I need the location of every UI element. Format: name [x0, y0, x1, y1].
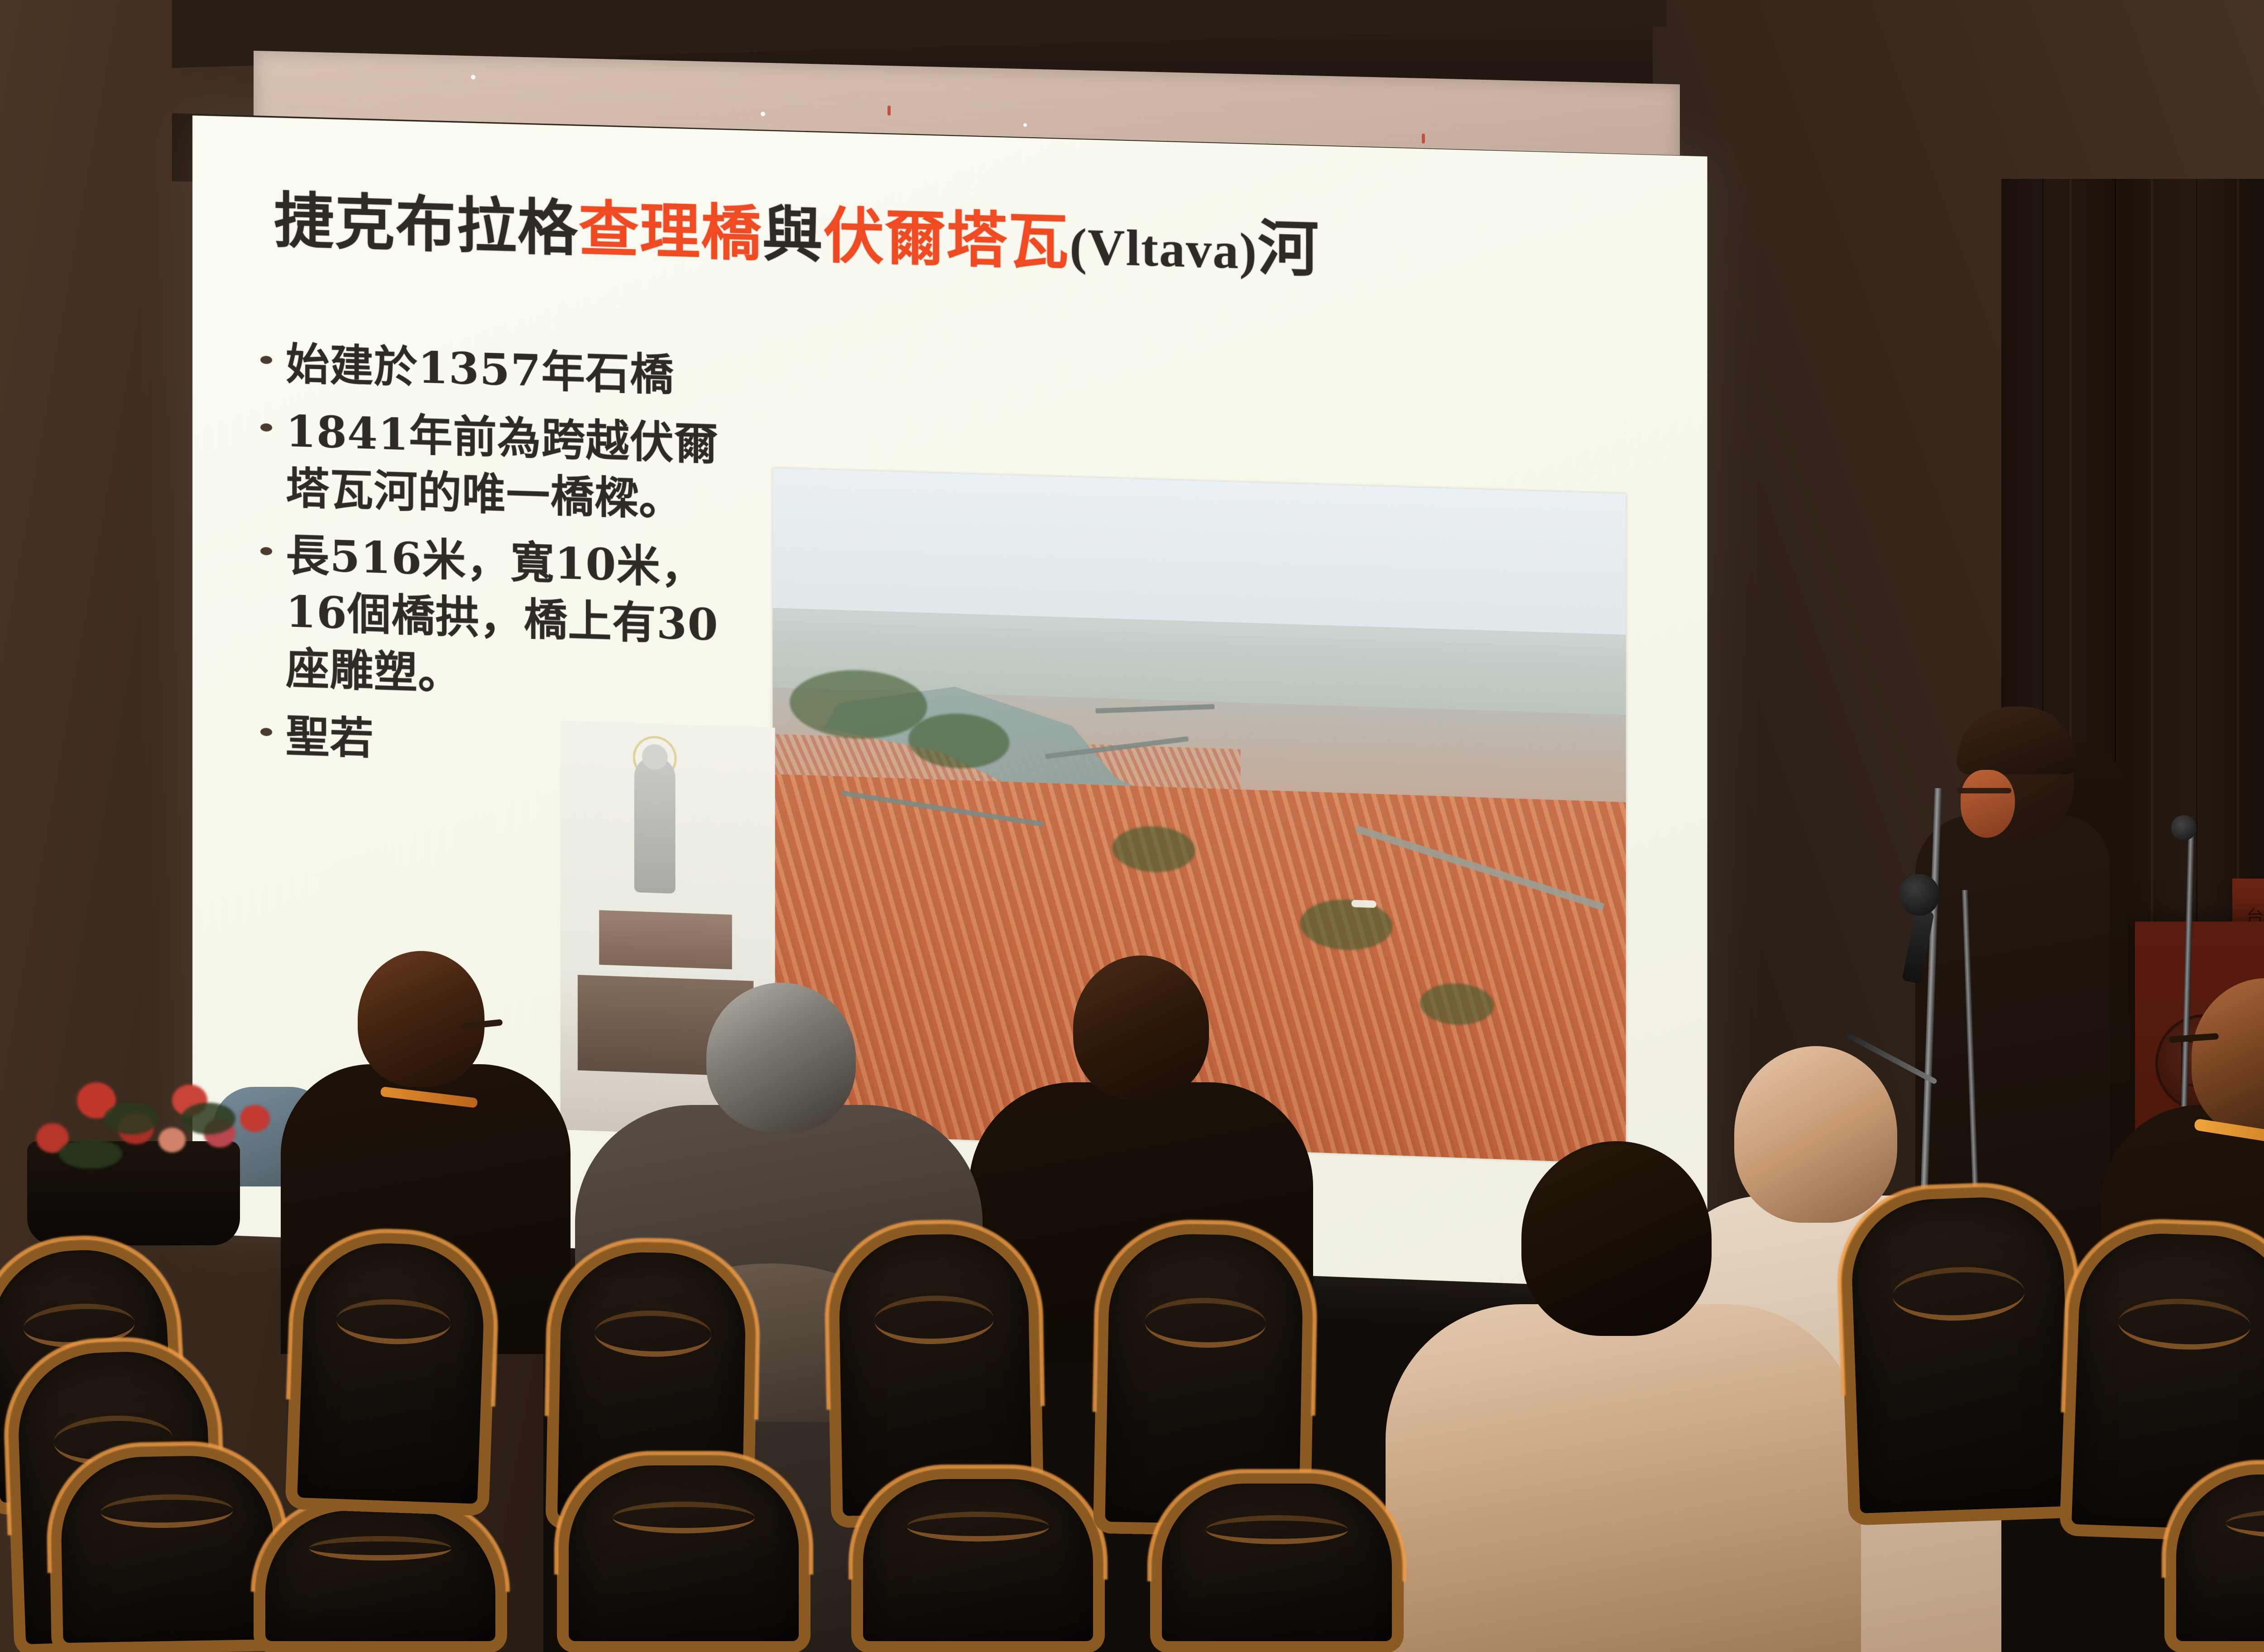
list-item: 始建於1357年石橋: [251, 335, 858, 409]
slide-bullet-list: 始建於1357年石橋 1841年前為跨越伏爾 塔瓦河的唯一橋樑。 長516米，寬…: [251, 335, 858, 794]
chair: [2164, 1463, 2264, 1652]
bullet-dot-icon: [260, 728, 272, 736]
bullet-text: 聖若: [286, 707, 374, 767]
bullet-dot-icon: [260, 423, 272, 432]
chair: [285, 1228, 498, 1516]
flower-arrangement: [23, 1060, 290, 1196]
microphone-icon: [1899, 874, 1939, 916]
title-part-5: 河: [1257, 212, 1319, 285]
chair: [254, 1499, 507, 1652]
bullet-text: 長516米，寬10米， 16個橋拱，橋上有30 座雕塑。: [286, 527, 718, 711]
chair: [557, 1454, 811, 1652]
bullet-text: 1841年前為跨越伏爾 塔瓦河的唯一橋樑。: [286, 403, 718, 529]
conference-hall-scene: 捷克布拉格查理橋與伏爾塔瓦(Vltava)河 始建於1357年石橋 1841年前…: [0, 0, 2264, 1652]
bullet-dot-icon: [260, 355, 272, 364]
microphone-icon: [2171, 815, 2197, 840]
title-part-4-latin: (Vltava): [1070, 218, 1257, 280]
audience-member-dark-bob: [1521, 1141, 1712, 1336]
chair: [48, 1442, 287, 1652]
chair: [851, 1467, 1105, 1652]
audience-member-grey-hair: [706, 983, 856, 1132]
bullet-dot-icon: [260, 547, 272, 556]
title-part-3-highlight: 伏爾塔瓦: [824, 201, 1070, 278]
audience-member-glasses-lanyard: [358, 951, 484, 1087]
bullet-text: 始建於1357年石橋: [286, 336, 674, 403]
title-part-0: 捷克布拉格: [274, 185, 579, 264]
glasses-icon: [1957, 788, 2011, 793]
slide-title: 捷克布拉格查理橋與伏爾塔瓦(Vltava)河: [274, 172, 1656, 298]
audience-member-dark-suit: [1073, 956, 1209, 1100]
list-item: 1841年前為跨越伏爾 塔瓦河的唯一橋樑。: [251, 402, 858, 534]
title-part-2: 與: [762, 199, 823, 271]
chair: [1837, 1182, 2084, 1526]
list-item: 長516米，寬10米， 16個橋拱，橋上有30 座雕塑。: [251, 526, 858, 715]
title-part-1-highlight: 查理橋: [579, 194, 762, 269]
chair: [1150, 1472, 1404, 1652]
audience-member-body: [1386, 1304, 1861, 1652]
